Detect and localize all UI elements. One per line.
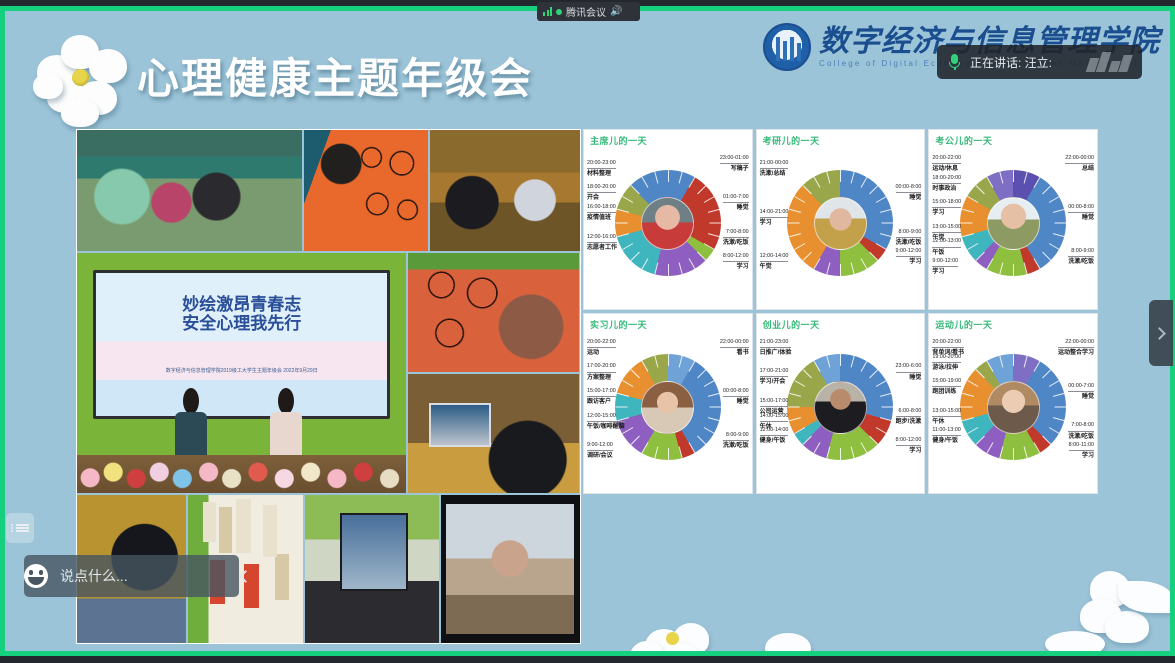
chart-label: 14:00-21:00学习 [760,208,789,228]
chart-label: 9:00-12:00调研/会议 [587,441,613,461]
clock-pie-chart [615,170,721,276]
photo-stage-banner: 妙绘激昂青春志 安全心理我先行 数字经济与信息管理学院2019级工大学生主题年级… [77,253,406,493]
chart-label: 22:00-00:00总结 [1065,154,1094,174]
daily-schedule-charts: 主席儿的一天23:00-01:00写稿子01:00-7:00睡觉7:00-8:0… [583,129,1098,494]
chart-label: 15:00-17:00公司运营 [760,397,789,417]
avatar [987,381,1040,434]
chart-label: 12:00-16:00志愿者工作 [587,233,617,253]
avatar [987,197,1040,250]
chevron-left-icon [239,570,252,583]
photo-girl-drawing [408,253,579,372]
avatar [641,197,694,250]
chart-title: 实习儿的一天 [590,318,647,331]
chart-title: 主席儿的一天 [590,134,647,147]
chart-label: 18:00-20:00开会 [587,183,616,203]
chart-label: 8:00-12:00学习 [896,436,922,456]
flower-petal [33,73,63,99]
chat-input[interactable] [48,568,241,584]
signal-bars-icon [543,7,552,16]
emoji-smiley-icon [24,564,48,588]
microphone-icon [949,54,960,70]
flower-petal [89,49,127,83]
chart-label: 17:00-20:00方案整理 [587,362,616,382]
chart-label: 17:00-21:00学习/开会 [760,367,789,387]
speaking-text: 正在讲话: 汪立: [970,54,1052,71]
photo-balloons [77,455,406,493]
schedule-chart-card: 考研儿的一天00:00-8:00睡觉8:00-9:00洗漱/吃饭9:00-12:… [756,129,926,310]
photo-wall-drawing [304,130,429,251]
chart-label: 7:00-8:00洗漱/吃饭 [1068,421,1094,441]
chart-title: 运动儿的一天 [935,318,992,331]
chart-label: 20:00-22:00运动 [587,338,616,358]
chevron-right-icon [1153,327,1166,340]
avatar [641,381,694,434]
event-banner: 妙绘激昂青春志 安全心理我先行 数字经济与信息管理学院2019级工大学生主题年级… [93,270,390,419]
chart-label: 16:00-18:00疫情值班 [587,203,616,223]
collage-row [77,130,580,251]
chart-label: 8:00-9:00洗漱/吃饭 [723,431,749,451]
chart-label: 23:00-6:00睡觉 [896,362,922,382]
clock-pie-chart [787,170,893,276]
schedule-chart-card: 主席儿的一天23:00-01:00写稿子01:00-7:00睡觉7:00-8:0… [583,129,753,310]
avatar [814,381,867,434]
chart-label: 20:00-22:00背单词/看书 [932,338,964,358]
banner-subtitle: 数字经济与信息管理学院2019级工大学生主题年级会 2022年9月29日 [126,367,358,374]
chart-label: 21:00-00:00洗漱/总结 [760,159,789,179]
chart-label: 22:00-00:00看书 [720,338,749,358]
chart-label: 20:00-22:00运动/休息 [932,154,961,174]
chart-label: 23:00-01:00写稿子 [720,154,749,174]
chat-history-button[interactable] [6,513,34,543]
audio-wave-icon [1088,52,1130,72]
chart-label: 00:00-8:00睡觉 [896,183,922,203]
schedule-chart-card: 创业儿的一天23:00-6:00睡觉6:00-8:00跑步/洗漱8:00-12:… [756,313,926,494]
chart-label: 13:00-15:00午休 [932,407,961,427]
chart-label: 11:00-13:00健身/午饭 [932,426,960,446]
chart-label: 00:00-7:00睡觉 [1068,382,1094,402]
chart-label: 12:00-14:00午觉 [760,252,789,272]
flower-center [72,69,89,86]
banner-title: 妙绘激昂青春志 安全心理我先行 [120,296,364,335]
chart-label: 9:00-12:00学习 [896,247,922,267]
chart-label: 13:00-15:00午觉 [932,223,961,243]
chart-label: 15:00-19:00跑团训练 [932,377,961,397]
chart-title: 创业儿的一天 [763,318,820,331]
chart-title: 考研儿的一天 [763,134,820,147]
chart-label: 01:00-7:00睡觉 [723,193,749,213]
chart-label: 8:00-12:00学习 [723,252,749,272]
chart-label: 12:00-15:00午饭/咖啡醒脑 [587,412,625,432]
chart-label: 8:00-11:00学习 [1069,441,1094,461]
chart-label: 20:00-23:00材料整理 [587,159,616,179]
chart-label: 8:00-9:00洗漱/吃饭 [1068,247,1094,267]
next-panel-button[interactable] [1149,300,1173,366]
chart-label: 15:00-18:00学习 [932,198,961,218]
clock-pie-chart [615,354,721,460]
tencent-meeting-status-bar[interactable]: 腾讯会议 🔊 [537,2,640,21]
schedule-chart-card: 实习儿的一天22:00-00:00看书00:00-8:00睡觉8:00-9:00… [583,313,753,494]
college-seal-icon [763,23,811,71]
chart-label: 6:00-8:00跑步/洗漱 [896,407,922,427]
chart-label: 8:00-9:00洗漱/吃饭 [896,228,922,248]
chart-label: 7:00-8:00洗漱/吃饭 [723,228,749,248]
flower-petal [61,99,99,127]
photo-video-call [441,495,580,643]
chart-label: 15:00-17:00跟访客户 [587,387,616,407]
recording-dot-icon [556,9,562,15]
emoji-picker-button[interactable] [24,555,48,597]
chart-label: 21:00-23:00日推广/体验 [760,338,792,358]
chart-label: 00:00-8:00睡觉 [723,387,749,407]
meeting-app-name: 腾讯会议 [566,4,606,19]
page-title: 心理健康主题年级会 [137,45,533,106]
chat-input-bar[interactable] [24,555,239,597]
schedule-chart-card: 考公儿的一天22:00-00:00总结00:00-8:00睡觉8:00-9:00… [928,129,1098,310]
avatar [814,197,867,250]
photo-laptop-group [430,130,580,251]
schedule-chart-card: 运动儿的一天22:00-00:00运动整合学习00:00-7:00睡觉7:00-… [928,313,1098,494]
collage-subcolumn [408,253,579,493]
collage-row: 妙绘激昂青春志 安全心理我先行 数字经济与信息管理学院2019级工大学生主题年级… [77,253,580,493]
clock-pie-chart [960,170,1066,276]
chart-label: 9:00-12:00学习 [932,257,958,277]
chart-label: 18:00-20:00时事政治 [932,174,961,194]
speaking-indicator: 正在讲话: 汪立: [937,45,1142,79]
photo-desk-laptop [408,374,579,493]
slide-header: 心理健康主题年级会 [31,29,533,121]
clock-pie-chart [960,354,1066,460]
list-icon [11,522,29,533]
speaker-icon[interactable]: 🔊 [610,6,622,17]
chart-label: 22:00-00:00运动整合学习 [1058,338,1094,358]
chart-title: 考公儿的一天 [935,134,992,147]
clock-pie-chart [787,354,893,460]
flower-icon [31,29,131,121]
chat-collapse-button[interactable] [241,555,250,597]
photo-classroom-screen [305,495,439,643]
chart-label: 00:00-8:00睡觉 [1068,203,1094,223]
photo-dorm-discussion [77,130,302,251]
